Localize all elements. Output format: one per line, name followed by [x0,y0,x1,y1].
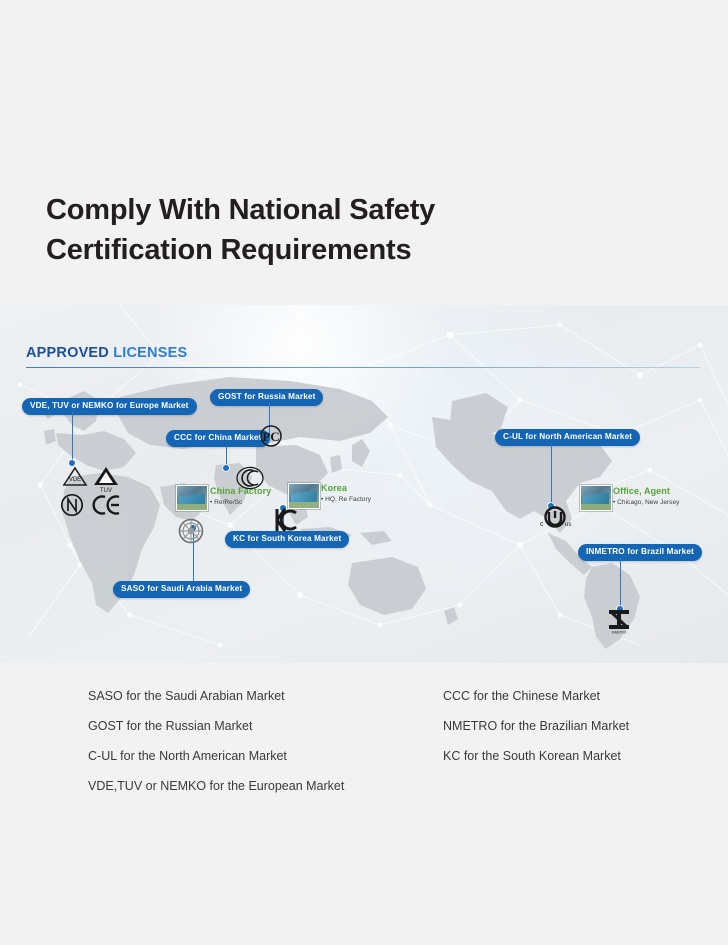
section-title-secondary: LICENSES [113,345,187,361]
callout-saudi-arabia[interactable]: SASO for Saudi Arabia Market [113,581,250,598]
site-office-agent: Office, Agent • Chicago, New Jersey [613,486,679,507]
callout-china[interactable]: CCC for China Market [166,430,270,447]
legend-item-gost: GOST for the Russian Market [88,711,344,741]
legend-item-saso: SASO for the Saudi Arabian Market [88,681,344,711]
svg-text:VDE: VDE [69,477,81,483]
site-korea-name: Korea [321,483,371,494]
page-title-line-2: Certification Requirements [46,230,666,270]
site-korea-sub: • HQ, Re Factory [321,495,371,504]
leader-dot-china [223,465,229,471]
nemko-mark-icon [60,493,84,517]
inmetro-mark-icon: INMETRO [606,608,632,634]
cul-mark-icon: c us [538,506,572,530]
legend-column-right: CCC for the Chinese Market NMETRO for th… [443,681,629,771]
legend-item-nmetro: NMETRO for the Brazilian Market [443,711,629,741]
ce-mark-icon [92,494,122,516]
kc-mark-icon [274,507,298,533]
office-agent-thumbnail [580,485,612,511]
site-china-factory-sub: • Re/Re/Sc [210,498,271,507]
saso-mark-icon [178,518,204,544]
leader-line-europe [72,412,73,464]
site-office-agent-sub: • Chicago, New Jersey [613,498,679,507]
callout-russia[interactable]: GOST for Russia Market [210,389,323,406]
legend-item-cul: C-UL for the North American Market [88,741,344,771]
section-title-primary: APPROVED [26,345,109,361]
callout-south-korea[interactable]: KC for South Korea Market [225,531,349,548]
legend-item-ccc: CCC for the Chinese Market [443,681,629,711]
site-china-factory: China Factory • Re/Re/Sc [210,486,271,507]
leader-line-brazil [620,558,621,610]
svg-text:c: c [540,521,544,528]
tuv-mark-icon: TUV [92,465,120,493]
svg-text:TUV: TUV [100,488,112,493]
site-office-agent-name: Office, Agent [613,486,679,497]
site-korea: Korea • HQ, Re Factory [321,483,371,504]
gost-mark-icon: PC [259,424,283,448]
legend-item-kc: KC for the South Korean Market [443,741,629,771]
korea-thumbnail [288,483,320,509]
callout-north-america[interactable]: C-UL for North American Market [495,429,640,446]
callout-europe[interactable]: VDE, TUV or NEMKO for Europe Market [22,398,197,415]
china-factory-thumbnail [176,485,208,511]
world-map-panel: APPROVED LICENSES VDE, TUV or NEMKO for … [0,305,728,663]
vde-mark-icon: VDE [62,466,88,488]
section-divider [26,367,700,368]
svg-text:INMETRO: INMETRO [612,631,627,635]
section-title: APPROVED LICENSES [26,345,187,361]
page-title-line-1: Comply With National Safety [46,194,435,226]
svg-text:us: us [565,522,571,528]
svg-text:PC: PC [262,429,279,444]
legend-column-left: SASO for the Saudi Arabian Market GOST f… [88,681,344,801]
site-china-factory-name: China Factory [210,486,271,497]
leader-line-north-america [551,443,552,507]
callout-brazil[interactable]: INMETRO for Brazil Market [578,544,702,561]
page-title: Comply With National Safety Certificatio… [46,190,666,270]
legend-item-vde: VDE,TUV or NEMKO for the European Market [88,771,344,801]
